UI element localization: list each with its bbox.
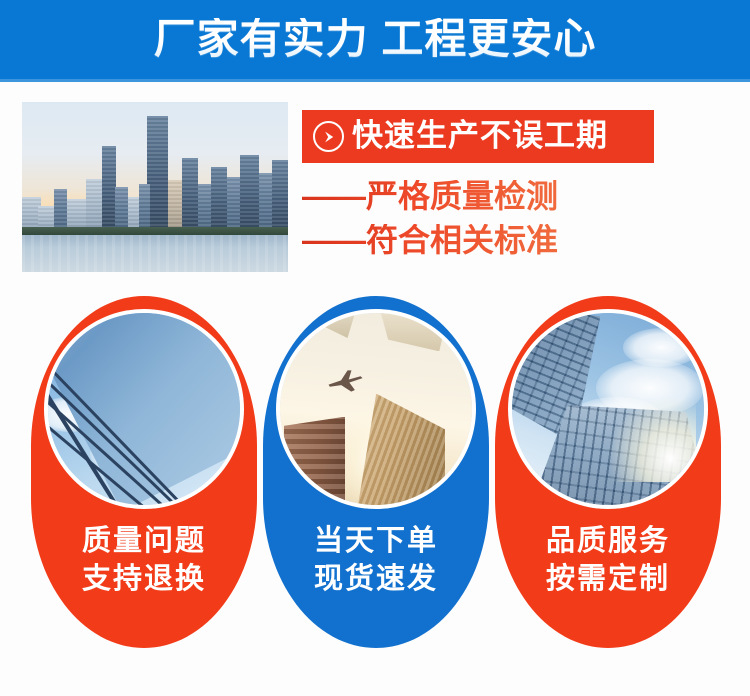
- card-caption-line1: 当天下单: [314, 523, 438, 561]
- photo-ring: [276, 309, 476, 509]
- page-header: 厂家有实力 工程更安心: [0, 0, 750, 81]
- building: [86, 179, 102, 235]
- header-underline: [0, 79, 750, 82]
- building: [240, 155, 259, 235]
- card-caption-line2: 现货速发: [314, 561, 438, 599]
- water-reflection: [22, 235, 288, 272]
- sun-flare: [604, 398, 696, 482]
- building: [182, 158, 198, 235]
- page-title: 厂家有实力 工程更安心: [154, 18, 597, 63]
- card-caption: 品质服务 按需定制: [546, 523, 670, 598]
- glass-ceiling-sky-photo: [512, 313, 704, 505]
- bullet-line-1: ——严格质量检测: [302, 180, 558, 212]
- building: [227, 177, 240, 235]
- feature-card-quality[interactable]: 质量问题 支持退换: [31, 296, 257, 648]
- airplane-skyscraper-photo: [280, 313, 472, 505]
- card-caption-line2: 按需定制: [546, 561, 670, 599]
- card-caption: 质量问题 支持退换: [82, 523, 206, 598]
- brick-building: [284, 417, 345, 505]
- cloud: [623, 328, 700, 366]
- building: [211, 167, 227, 235]
- highlight-banner: 快速生产不误工期: [302, 110, 654, 163]
- highlight-banner-text: 快速生产不误工期: [352, 120, 608, 153]
- feature-card-shipping[interactable]: 当天下单 现货速发: [263, 296, 489, 648]
- feature-cards: 质量问题 支持退换: [0, 296, 750, 656]
- card-caption-line1: 质量问题: [82, 523, 206, 561]
- glass-facade-photo: [48, 313, 240, 505]
- city-skyline-photo: [22, 102, 288, 272]
- airplane-icon: [326, 369, 364, 394]
- top-section: 快速生产不误工期 ——严格质量检测 ——符合相关标准: [0, 96, 750, 276]
- building: [272, 160, 288, 235]
- bullet-line-2: ——符合相关标准: [302, 224, 558, 256]
- photo-ring: [508, 309, 708, 509]
- photo-ring: [44, 309, 244, 509]
- card-caption: 当天下单 现货速发: [314, 523, 438, 598]
- card-caption-line2: 支持退换: [82, 561, 206, 599]
- feature-card-service[interactable]: 品质服务 按需定制: [495, 296, 721, 648]
- building-tallest: [147, 116, 168, 235]
- play-circle-icon: [313, 121, 344, 152]
- card-caption-line1: 品质服务: [546, 523, 670, 561]
